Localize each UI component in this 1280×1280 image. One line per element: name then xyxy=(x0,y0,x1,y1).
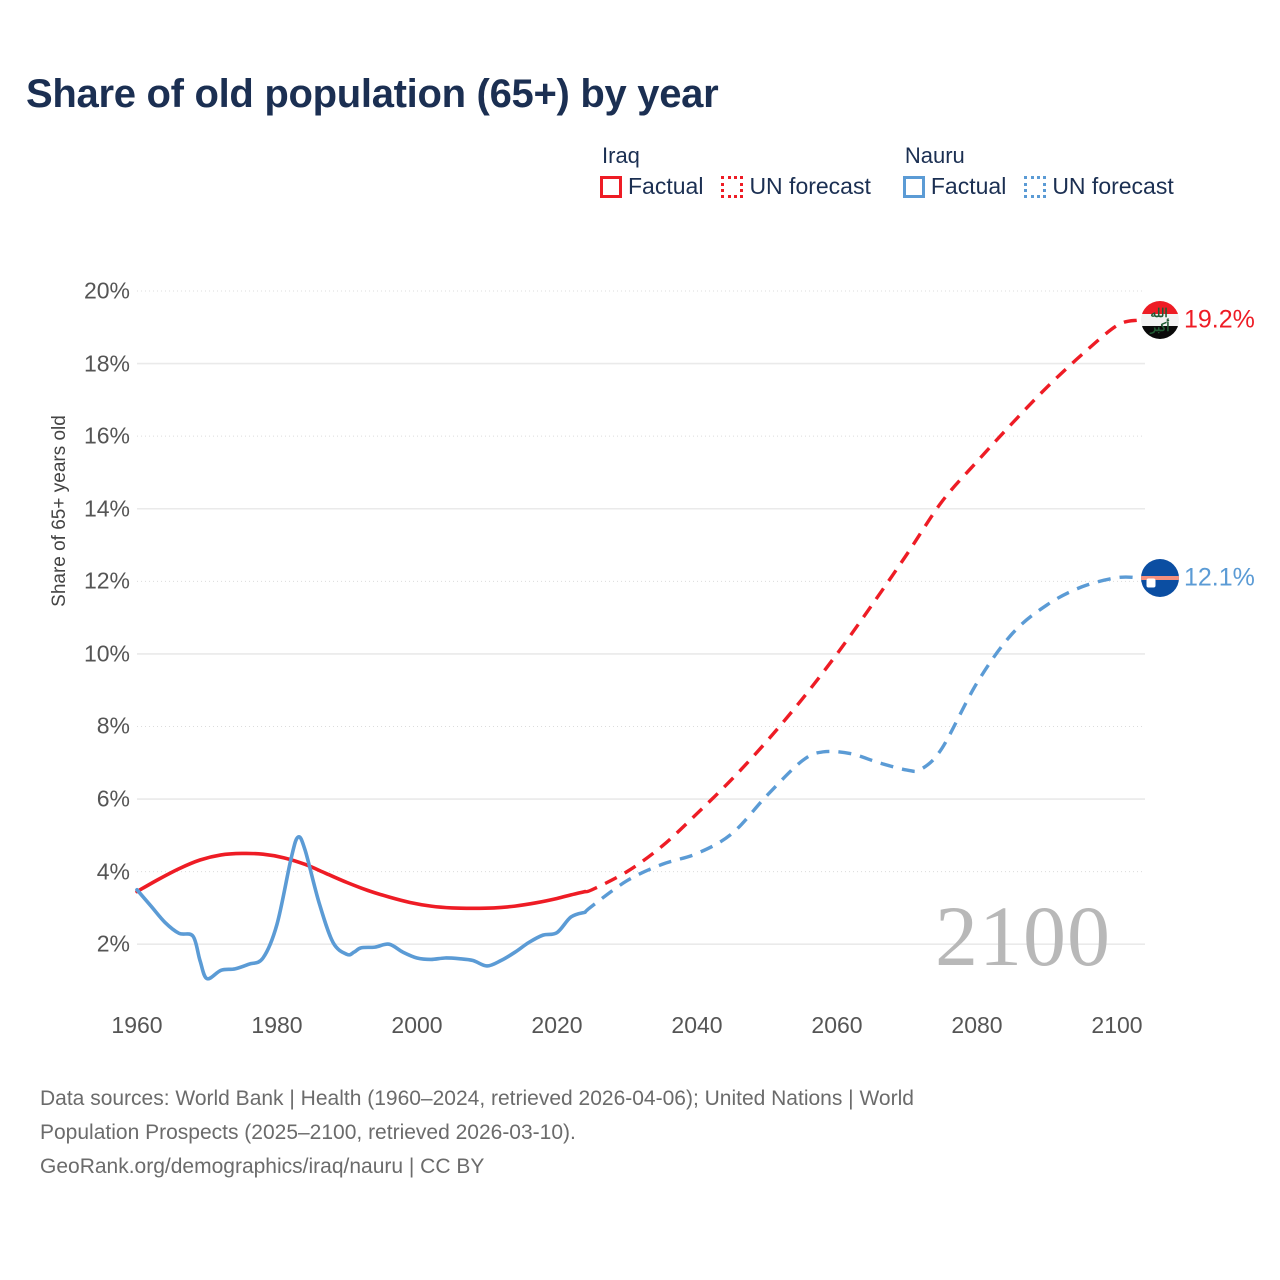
iraq-end-label: 19.2% xyxy=(1184,306,1255,335)
nauru-end-label: 12.1% xyxy=(1184,563,1255,592)
chart-page: Share of old population (65+) by year Ir… xyxy=(0,0,1280,1280)
footer-sources-line-1: Data sources: World Bank | Health (1960–… xyxy=(40,1082,1240,1116)
flag-script-text: الله أكبر xyxy=(1150,306,1169,334)
plot-area: Share of 65+ years old 2%4%6%8%10%12%14%… xyxy=(0,0,1280,1060)
flag-star-icon xyxy=(1147,578,1156,587)
iraq-flag-icon: الله أكبر xyxy=(1141,301,1179,339)
footer: Data sources: World Bank | Health (1960–… xyxy=(40,1082,1240,1184)
footer-attribution: GeoRank.org/demographics/iraq/nauru | CC… xyxy=(40,1150,1240,1184)
footer-sources-line-2: Population Prospects (2025–2100, retriev… xyxy=(40,1116,1240,1150)
year-watermark: 2100 xyxy=(935,893,1111,979)
nauru-flag-icon xyxy=(1141,559,1179,597)
